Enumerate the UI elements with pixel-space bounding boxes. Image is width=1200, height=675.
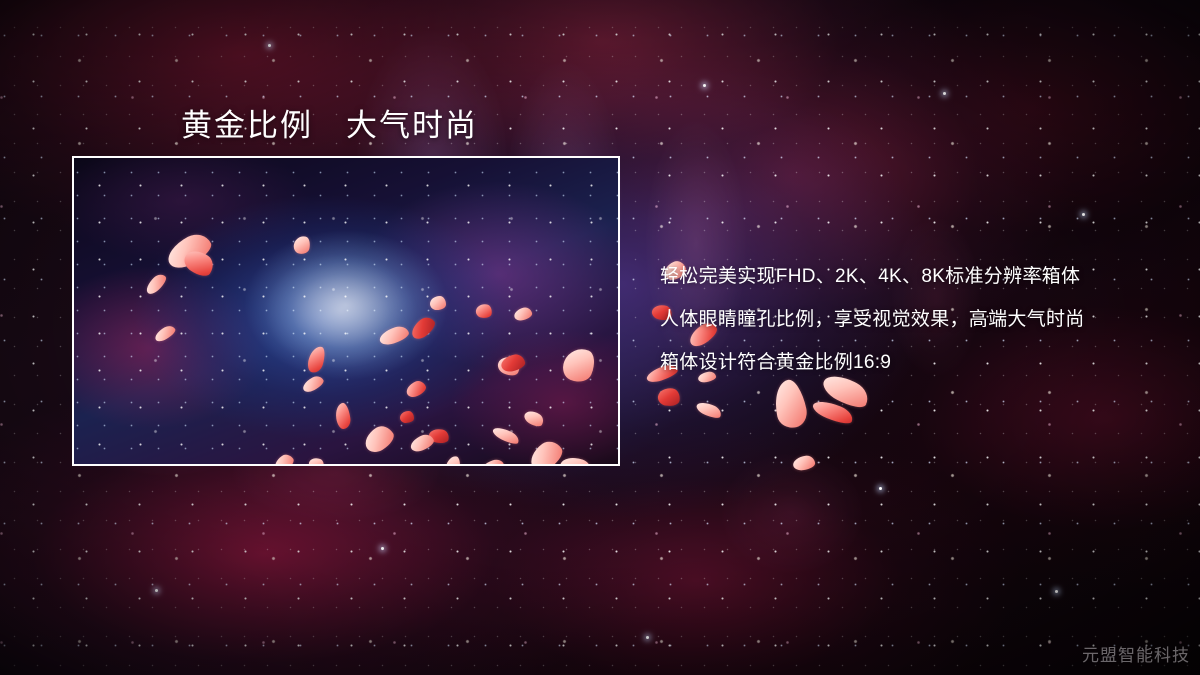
bright-star	[943, 92, 946, 95]
page-title: 黄金比例 大气时尚	[181, 100, 478, 145]
description-line-3: 箱体设计符合黄金比例16:9	[660, 341, 1170, 384]
bright-star	[1055, 590, 1058, 593]
description-block: 轻松完美实现FHD、2K、4K、8K标准分辨率箱体 人体眼睛瞳孔比例，享受视觉效…	[660, 255, 1170, 384]
presentation-slide: 黄金比例 大气时尚 轻松完美实现FHD、2K、4K、8K标准分辨率箱体 人体眼睛…	[0, 0, 1200, 675]
bright-star	[1082, 213, 1085, 216]
bright-star	[381, 547, 384, 550]
petal	[657, 387, 681, 408]
petal	[400, 411, 414, 423]
petal	[430, 296, 446, 310]
petal	[770, 377, 809, 430]
watermark-label: 元盟智能科技	[1082, 641, 1190, 666]
petal	[792, 455, 816, 472]
description-line-2: 人体眼睛瞳孔比例，享受视觉效果，高端大气时尚	[660, 298, 1170, 341]
petal	[695, 399, 724, 421]
bright-star	[646, 636, 649, 639]
bright-star	[268, 44, 271, 47]
bright-star	[703, 84, 706, 87]
bright-star	[879, 487, 882, 490]
description-line-1: 轻松完美实现FHD、2K、4K、8K标准分辨率箱体	[660, 255, 1170, 298]
image-frame	[72, 156, 620, 466]
bright-star	[155, 589, 158, 592]
